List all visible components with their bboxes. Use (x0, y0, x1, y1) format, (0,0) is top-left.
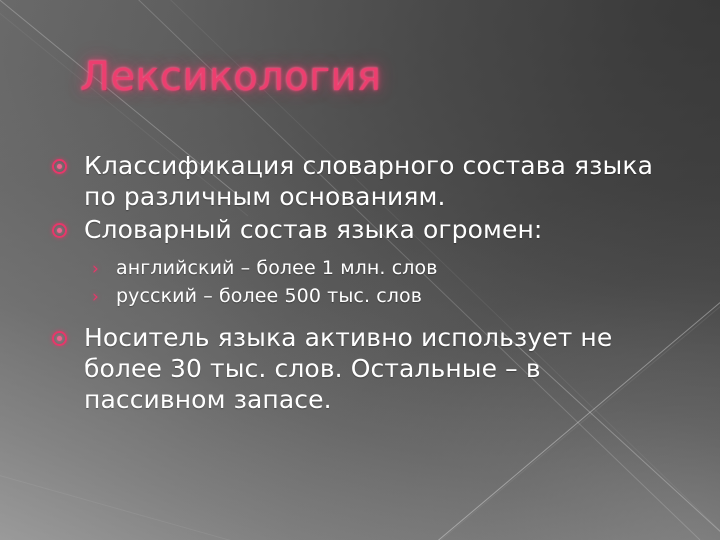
sub-bullet-list: › английский – более 1 млн. слов › русск… (84, 255, 680, 310)
chevron-right-icon: › (92, 256, 99, 283)
list-item: Носитель языка активно использует не бол… (50, 322, 680, 415)
sub-bullet-text: русский – более 500 тыс. слов (116, 285, 422, 307)
list-item: Словарный состав языка огромен: › англий… (50, 214, 680, 310)
bullet-text: Классификация словарного состава языка п… (84, 151, 653, 211)
slide-content: Лексикология Классификация словарного со… (0, 0, 720, 540)
sub-bullet-text: английский – более 1 млн. слов (116, 257, 438, 279)
slide-title: Лексикология (80, 54, 381, 100)
bullet-text: Носитель языка активно использует не бол… (84, 323, 612, 414)
target-bullet-icon (52, 331, 67, 346)
target-bullet-icon (52, 159, 67, 174)
chevron-right-icon: › (92, 284, 99, 311)
bullet-list: Классификация словарного состава языка п… (50, 150, 680, 415)
presentation-slide: Лексикология Классификация словарного со… (0, 0, 720, 540)
target-bullet-icon (52, 223, 67, 238)
list-item: Классификация словарного состава языка п… (50, 150, 680, 212)
list-item: › английский – более 1 млн. слов (84, 255, 680, 282)
list-item: › русский – более 500 тыс. слов (84, 283, 680, 310)
slide-body: Классификация словарного состава языка п… (50, 150, 680, 417)
bullet-text: Словарный состав языка огромен: (84, 215, 542, 244)
sub-bullet-wrapper: › английский – более 1 млн. слов › русск… (84, 255, 680, 310)
